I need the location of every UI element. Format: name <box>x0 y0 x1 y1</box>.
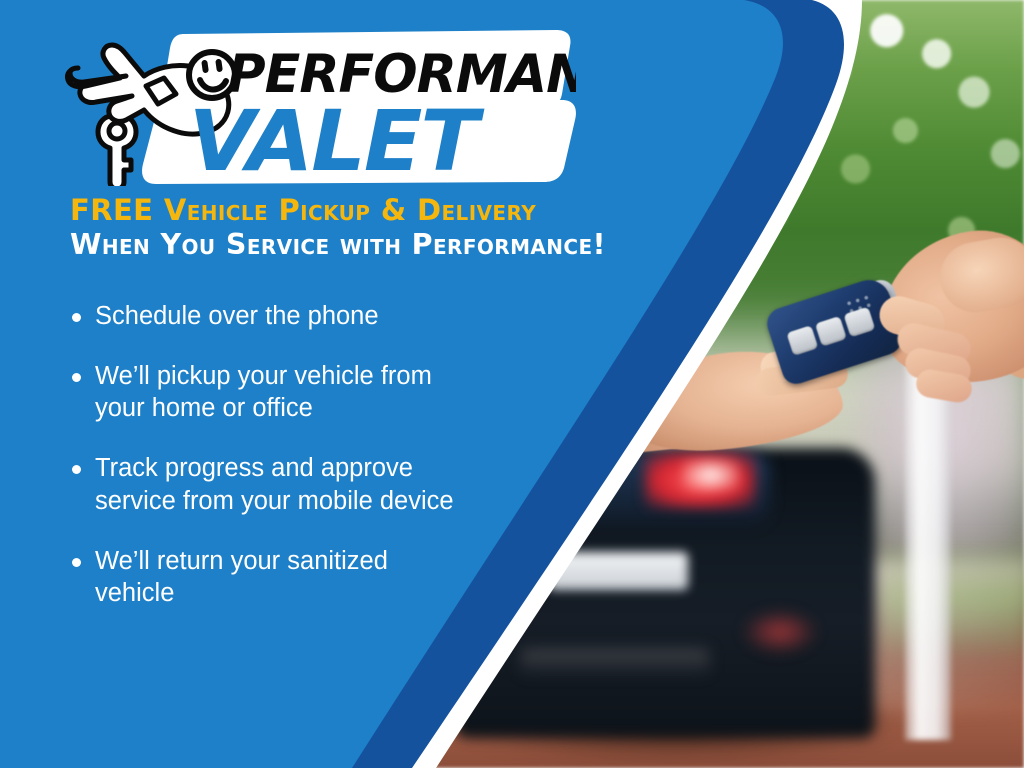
bullet-dot-icon <box>72 465 81 474</box>
logo-artwork: PERFORMANCE VALET <box>56 18 576 186</box>
bullet-dot-icon <box>72 558 81 567</box>
bullet-dot-icon <box>72 313 81 322</box>
car-rear-bumper <box>520 648 710 678</box>
headline-primary: FREE Vehicle Pickup & Delivery <box>70 193 690 228</box>
logo-valet-text: VALET <box>189 93 485 186</box>
list-item: Track progress and approve service from … <box>66 452 566 516</box>
list-item-label: Track progress and approve service from … <box>95 452 454 516</box>
list-item: We’ll pickup your vehicle from your home… <box>66 360 566 424</box>
list-item: We’ll return your sanitized vehicle <box>66 545 566 609</box>
bullet-dot-icon <box>72 373 81 382</box>
performance-valet-logo: PERFORMANCE VALET <box>56 18 576 186</box>
headline-block: FREE Vehicle Pickup & Delivery When You … <box>70 193 690 263</box>
list-item-label: We’ll return your sanitized vehicle <box>95 545 388 609</box>
list-item-label: Schedule over the phone <box>95 300 379 332</box>
car-bumper-reflector <box>742 610 818 654</box>
list-item: Schedule over the phone <box>66 300 566 332</box>
list-item-label: We’ll pickup your vehicle from your home… <box>95 360 432 424</box>
car-taillight-right-highlight <box>682 458 740 492</box>
promo-banner: PERFORMANCE VALET FREE Vehicle Pickup & … <box>0 0 1024 768</box>
headline-secondary: When You Service with Performance! <box>70 228 690 263</box>
benefits-list: Schedule over the phone We’ll pickup you… <box>66 300 566 637</box>
